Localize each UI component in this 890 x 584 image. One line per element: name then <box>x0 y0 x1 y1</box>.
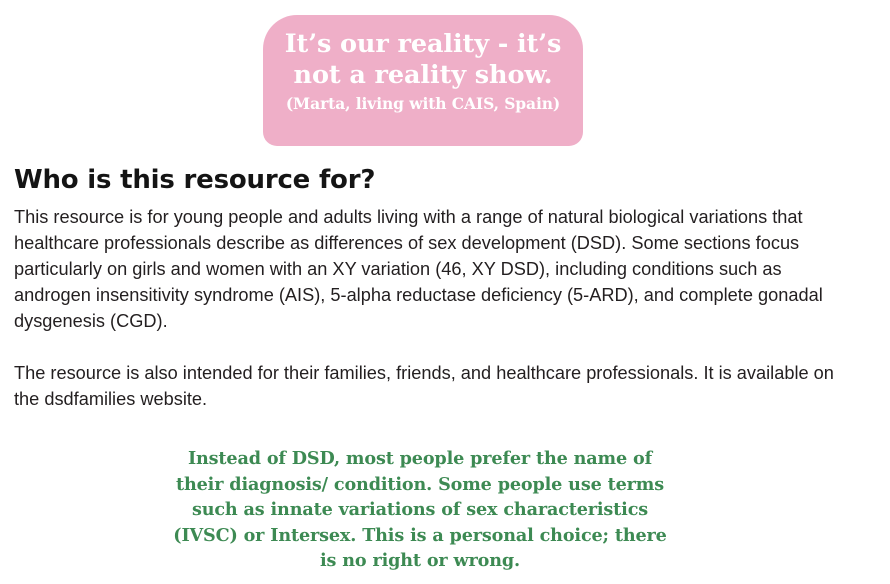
pull-quote-text: It’s our reality - it’s not a reality sh… <box>273 29 573 91</box>
pull-quote-callout: It’s our reality - it’s not a reality sh… <box>263 15 583 146</box>
terminology-note: Instead of DSD, most people prefer the n… <box>145 446 695 574</box>
body-paragraph-1: This resource is for young people and ad… <box>14 204 862 334</box>
body-paragraph-2: The resource is also intended for their … <box>14 360 862 412</box>
page-title: Who is this resource for? <box>14 164 862 196</box>
article-body: Who is this resource for? This resource … <box>14 164 862 412</box>
pull-quote-attribution: (Marta, living with CAIS, Spain) <box>273 94 573 114</box>
